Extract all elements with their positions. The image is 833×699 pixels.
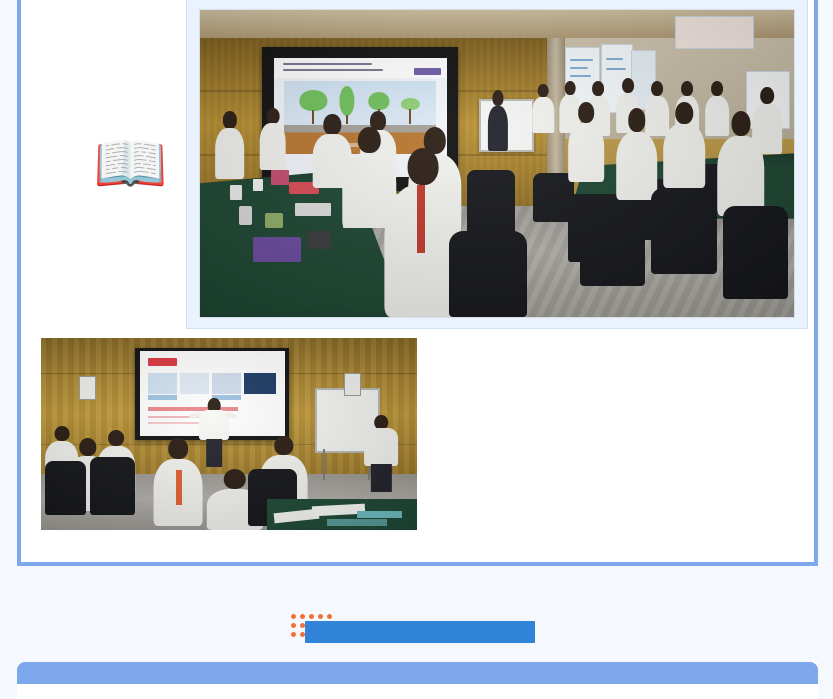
loading-dot [327, 614, 332, 619]
loading-dot [300, 614, 305, 619]
article-body: 📖 [21, 0, 814, 562]
next-article-card-body [21, 684, 814, 699]
loading-dot [318, 614, 323, 619]
training-classroom-photo-presenter[interactable] [41, 338, 417, 530]
loading-dot [291, 623, 296, 628]
loading-progress-bar [305, 621, 535, 643]
next-article-card-header [17, 662, 818, 684]
photo-frame-1 [186, 0, 808, 329]
content-loading-indicator [289, 612, 535, 642]
open-book-icon: 📖 [93, 128, 165, 200]
loading-region [0, 572, 833, 656]
loading-dot [309, 614, 314, 619]
training-classroom-photo-wide[interactable] [200, 10, 794, 317]
article-content-card: 📖 [17, 0, 818, 566]
loading-dot [291, 632, 296, 637]
loading-dot [291, 614, 296, 619]
